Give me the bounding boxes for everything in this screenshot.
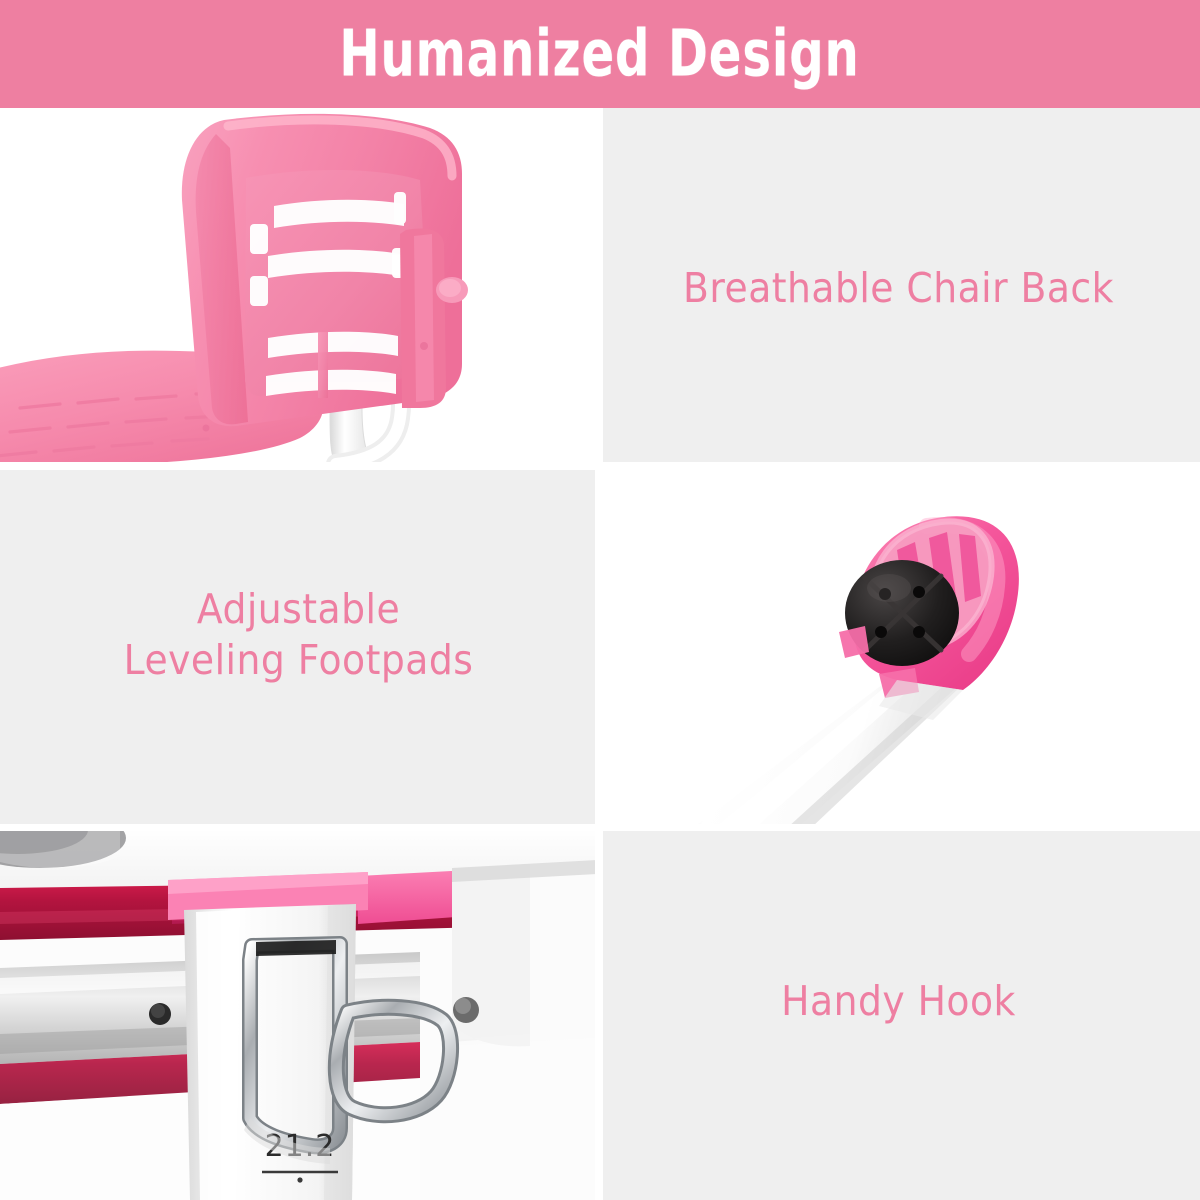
caption-footpads-line-1: Adjustable	[24, 584, 573, 635]
chair-back-image	[0, 108, 597, 466]
panel-hook-photo: 21.2	[0, 828, 597, 1200]
caption-handy-hook: Handy Hook	[621, 976, 1176, 1027]
panel-footpad-photo	[597, 466, 1200, 828]
caption-handy-hook-line-1: Handy Hook	[621, 976, 1176, 1027]
caption-footpads-line-2: Leveling Footpads	[24, 635, 573, 686]
caption-chair-back: Breathable Chair Back	[621, 263, 1176, 314]
panel-chair-back-caption: Breathable Chair Back	[597, 108, 1200, 466]
page-title: Humanized Design	[340, 17, 860, 91]
chair-back-illustration	[0, 108, 597, 466]
panel-footpads-caption: Adjustable Leveling Footpads	[0, 466, 597, 828]
hook-image: 21.2	[0, 828, 597, 1200]
feature-grid: Breathable Chair Back Adjustable Levelin…	[0, 108, 1200, 1200]
poster-header-banner: Humanized Design	[0, 0, 1200, 108]
caption-footpads: Adjustable Leveling Footpads	[24, 584, 573, 687]
caption-chair-back-line-1: Breathable Chair Back	[621, 263, 1176, 314]
footpad-image	[597, 466, 1200, 828]
panel-hook-caption: Handy Hook	[597, 828, 1200, 1200]
handy-hook-illustration: 21.2	[0, 828, 597, 1200]
leveling-footpad-illustration	[597, 466, 1200, 828]
panel-chair-back-photo	[0, 108, 597, 466]
product-feature-poster: Humanized Design	[0, 0, 1200, 1200]
